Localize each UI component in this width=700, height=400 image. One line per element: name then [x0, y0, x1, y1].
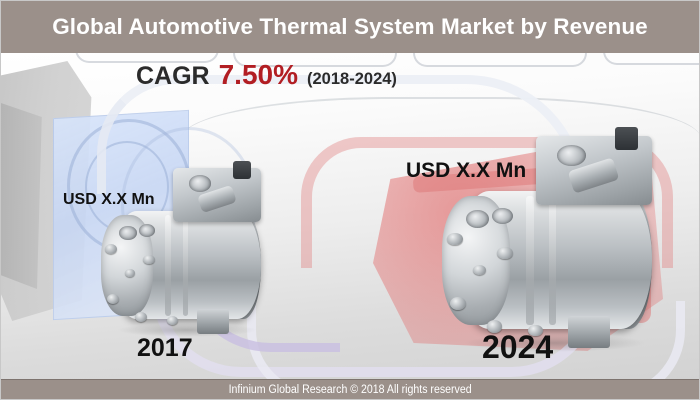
bolt-icon — [497, 247, 513, 260]
compressor-rib — [183, 215, 188, 316]
footer-bar: Infinium Global Research © 2018 All righ… — [1, 379, 699, 399]
electrical-connector-icon — [233, 161, 251, 179]
bolt-icon — [135, 312, 147, 322]
cagr-period: (2018-2024) — [307, 70, 397, 89]
bolt-icon — [105, 244, 117, 254]
compressor-mount-foot — [197, 309, 229, 334]
bolt-icon — [107, 294, 119, 304]
title-bar: Global Automotive Thermal System Market … — [1, 1, 699, 53]
compressor-port — [557, 145, 586, 166]
copyright-text: Infinium Global Research © 2018 All righ… — [228, 384, 471, 396]
compressor-port — [466, 210, 490, 228]
compressor-rib — [526, 196, 534, 325]
bolt-icon — [167, 316, 178, 325]
bolt-icon — [450, 297, 466, 310]
compressor-rib — [549, 196, 555, 325]
cagr-callout: CAGR 7.50% (2018-2024) — [136, 59, 397, 91]
year-label-2024: 2024 — [482, 329, 553, 366]
value-label-2024: USD X.X Mn — [406, 159, 526, 183]
compressor-mount-foot — [568, 316, 610, 348]
compressor-rib — [165, 215, 171, 316]
value-label-2017: USD X.X Mn — [63, 191, 155, 209]
year-label-2017: 2017 — [137, 334, 193, 363]
compressor-2017 — [85, 161, 285, 341]
compressor-port — [492, 208, 513, 224]
electrical-connector-icon — [615, 127, 639, 150]
cagr-label: CAGR — [136, 62, 210, 91]
compressor-port — [139, 224, 155, 237]
compressor-port — [119, 226, 137, 240]
cagr-value: 7.50% — [219, 59, 298, 91]
compressor-port — [189, 175, 211, 191]
page-title: Global Automotive Thermal System Market … — [52, 14, 648, 40]
infographic-canvas: Global Automotive Thermal System Market … — [0, 0, 700, 400]
